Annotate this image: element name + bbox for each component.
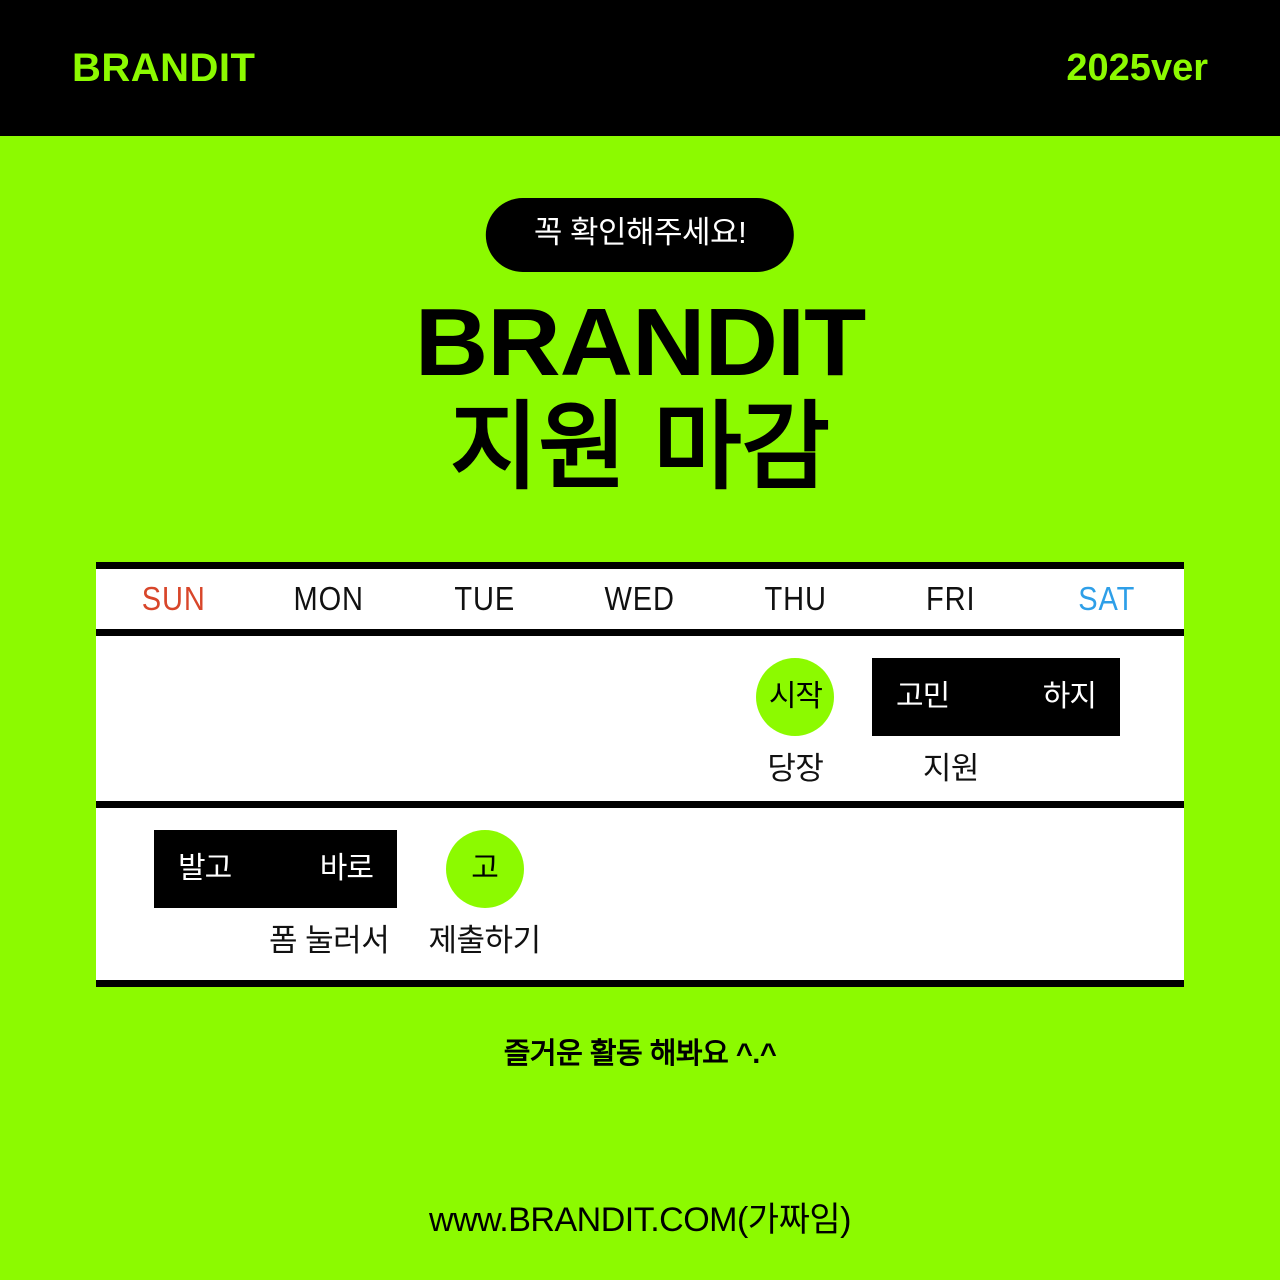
event-caption-form: 폼 눌러서 — [251, 922, 406, 959]
calendar-cell-row1-thu: 시작 당장 — [718, 636, 873, 801]
footer-website-url[interactable]: www.BRANDIT.COM(가짜임) — [0, 1192, 1280, 1241]
calendar-cell-row2-fri — [873, 808, 1028, 980]
brand-logo: BRANDIT — [72, 48, 255, 88]
weekday-label-fri: FRI — [882, 580, 1019, 618]
calendar-cell-row1-tue — [407, 636, 562, 801]
weekday-label-mon: MON — [261, 580, 398, 618]
calendar-row-2: 폼 눌러서 고 제출하기 발고 바로 — [96, 808, 1184, 980]
version-label: 2025ver — [1066, 49, 1208, 87]
page-title: BRANDIT 지원 마감 — [0, 296, 1280, 500]
event-bar-consider[interactable]: 고민 하지 — [872, 658, 1120, 736]
event-caption-submit: 제출하기 — [407, 922, 562, 959]
poster-stage: 꼭 확인해주세요! BRANDIT 지원 마감 SUN MON TUE WED … — [0, 136, 1280, 1280]
event-circle-submit[interactable]: 고 — [446, 830, 524, 908]
weekday-label-sun: SUN — [105, 580, 242, 618]
calendar-cell-row1-mon — [251, 636, 406, 801]
weekday-label-tue: TUE — [416, 580, 553, 618]
calendar-cell-row1-sun — [96, 636, 251, 801]
calendar-row-1: 시작 당장 지원 고민 하지 — [96, 636, 1184, 808]
event-bar-consider-right: 하지 — [1043, 682, 1096, 712]
page-title-line-1: BRANDIT — [0, 296, 1280, 390]
top-header-bar: BRANDIT 2025ver — [0, 0, 1280, 136]
calendar-cell-row2-sat — [1029, 808, 1184, 980]
calendar-panel: SUN MON TUE WED THU FRI SAT 시작 당장 지원 — [96, 562, 1184, 987]
event-caption-start: 당장 — [718, 750, 873, 787]
event-bar-press-now-left: 발고 — [178, 854, 231, 884]
weekday-label-thu: THU — [727, 580, 864, 618]
calendar-cell-row2-thu — [718, 808, 873, 980]
closing-note: 즐거운 활동 해봐요 ^.^ — [0, 1030, 1280, 1072]
event-bar-press-now[interactable]: 발고 바로 — [154, 830, 397, 908]
weekday-label-sat: SAT — [1038, 580, 1175, 618]
page-title-line-2: 지원 마감 — [0, 396, 1280, 500]
event-caption-apply: 지원 — [873, 750, 1028, 787]
calendar-cell-row1-wed — [562, 636, 717, 801]
calendar-cell-row2-wed — [562, 808, 717, 980]
notice-badge: 꼭 확인해주세요! — [486, 198, 794, 272]
calendar-weekday-header: SUN MON TUE WED THU FRI SAT — [96, 569, 1184, 636]
event-bar-press-now-right: 바로 — [320, 854, 373, 884]
calendar-cell-row2-tue: 고 제출하기 — [407, 808, 562, 980]
weekday-label-wed: WED — [572, 580, 709, 618]
event-circle-start[interactable]: 시작 — [756, 658, 834, 736]
event-bar-consider-left: 고민 — [896, 682, 949, 712]
